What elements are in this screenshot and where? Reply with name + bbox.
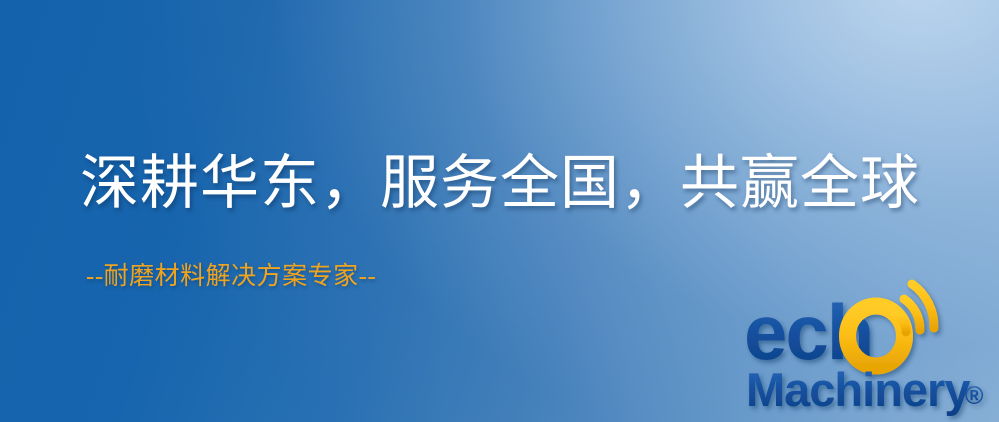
- echo-machinery-logo[interactable]: ech Machinery ®: [744, 296, 996, 420]
- logo-trademark-symbol: ®: [965, 382, 984, 410]
- banner-headline: 深耕华东，服务全国，共赢全球: [80, 154, 920, 213]
- banner-subtitle: --耐磨材料解决方案专家--: [86, 264, 376, 289]
- logo-echo-wave-arcs: [896, 284, 934, 332]
- hero-banner: 深耕华东，服务全国，共赢全球 --耐磨材料解决方案专家--: [0, 0, 999, 422]
- logo-text-machinery: Machinery: [746, 363, 970, 416]
